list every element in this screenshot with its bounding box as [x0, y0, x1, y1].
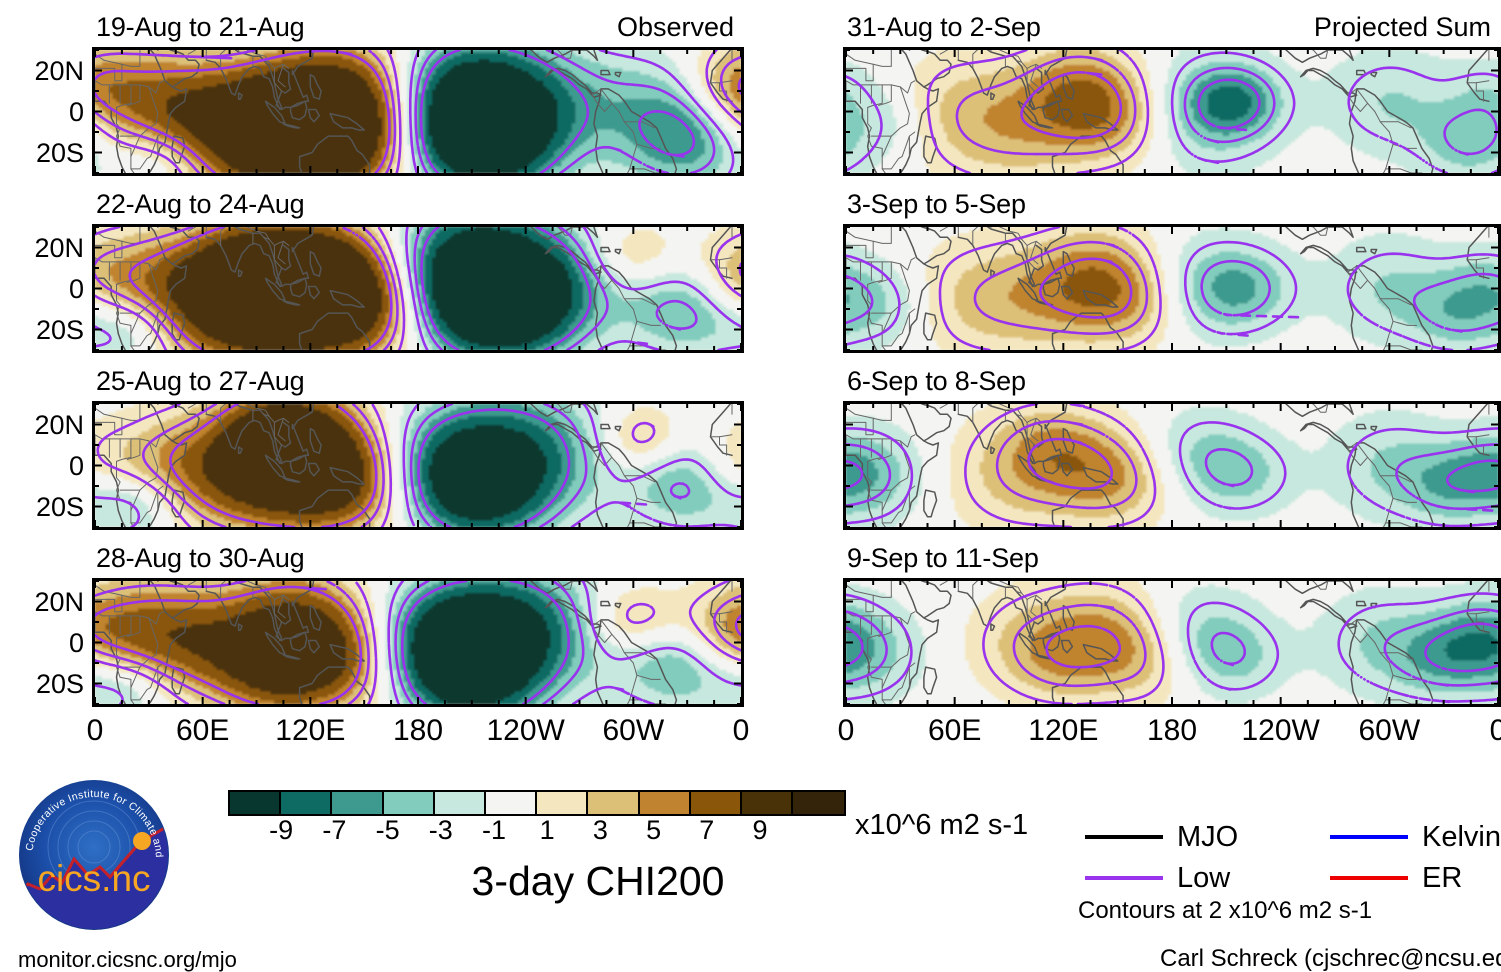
colorbar-swatch	[742, 792, 793, 814]
x-axis-label: 0	[733, 716, 750, 746]
x-axis-label: 0	[838, 716, 855, 746]
colorbar-tick-label: 5	[646, 817, 661, 844]
filled-contours	[846, 581, 1498, 704]
colorbar-tick-label: 1	[540, 817, 555, 844]
contour-interval-note: Contours at 2 x10^6 m2 s-1	[1078, 899, 1372, 923]
panel-title: 6-Sep to 8-Sep	[847, 368, 1026, 395]
colorbar-swatch	[588, 792, 639, 814]
panel-title: 25-Aug to 27-Aug	[96, 368, 304, 395]
colorbar-tick-label: -7	[322, 817, 346, 844]
map-canvas	[846, 50, 1498, 173]
figure-title: 3-day CHI200	[472, 861, 725, 902]
legend-label: Kelvin x2	[1422, 823, 1501, 852]
y-axis-label: 20S	[6, 671, 84, 698]
y-axis-label: 20N	[6, 589, 84, 616]
y-axis-label: 20N	[6, 235, 84, 262]
map-canvas	[846, 581, 1498, 704]
colorbar-tick-label: -9	[269, 817, 293, 844]
x-axis-label: 120W	[1241, 716, 1319, 746]
filled-contours	[846, 227, 1498, 350]
x-axis-label: 120E	[275, 716, 345, 746]
legend-line-low	[1085, 876, 1163, 880]
map-panel[interactable]	[92, 578, 744, 707]
map-canvas	[95, 50, 741, 173]
panel-title: 3-Sep to 5-Sep	[847, 191, 1026, 218]
cicsnc-logo-svg: Cooperative Institute for Climate and Sa…	[18, 779, 170, 931]
map-canvas	[846, 404, 1498, 527]
panel-title: 22-Aug to 24-Aug	[96, 191, 304, 218]
colorbar-tick-label: 9	[752, 817, 767, 844]
column-header: Observed	[617, 14, 734, 41]
colorbar-tick-label: 3	[593, 817, 608, 844]
y-axis-label: 20N	[6, 58, 84, 85]
colorbar-tick-label: -1	[482, 817, 506, 844]
column-header: Projected Sum	[1314, 14, 1491, 41]
x-axis-label: 60W	[602, 716, 664, 746]
filled-contours	[95, 50, 741, 173]
map-canvas	[846, 227, 1498, 350]
colorbar-swatch	[332, 792, 383, 814]
y-axis-label: 20N	[6, 412, 84, 439]
panel-title: 9-Sep to 11-Sep	[847, 545, 1039, 572]
map-panel[interactable]	[843, 578, 1501, 707]
colorbar-swatch	[640, 792, 691, 814]
map-panel[interactable]	[843, 47, 1501, 176]
x-axis-label: 0	[87, 716, 104, 746]
legend-line-mjo	[1085, 835, 1163, 839]
colorbar-units: x10^6 m2 s-1	[855, 811, 1028, 840]
map-panel[interactable]	[843, 401, 1501, 530]
map-panel[interactable]	[92, 224, 744, 353]
y-axis-label: 0	[6, 453, 84, 480]
legend-line-kelvin-x2	[1330, 835, 1408, 839]
panel-title: 28-Aug to 30-Aug	[96, 545, 304, 572]
y-axis-label: 0	[6, 630, 84, 657]
x-axis-label: 0	[1490, 716, 1501, 746]
legend-line-er	[1330, 876, 1408, 880]
cicsnc-logo: Cooperative Institute for Climate and Sa…	[18, 779, 170, 931]
x-axis-label: 180	[393, 716, 443, 746]
colorbar-tick-label: -3	[429, 817, 453, 844]
colorbar-tick-label: -5	[376, 817, 400, 844]
map-canvas	[95, 227, 741, 350]
panel-title: 19-Aug to 21-Aug	[96, 14, 304, 41]
colorbar-swatch	[793, 792, 844, 814]
colorbar-swatch	[384, 792, 435, 814]
colorbar-swatch	[230, 792, 281, 814]
colorbar-swatch	[281, 792, 332, 814]
map-panel[interactable]	[92, 401, 744, 530]
colorbar-swatch	[691, 792, 742, 814]
x-axis-label: 60E	[928, 716, 981, 746]
colorbar-swatch	[435, 792, 486, 814]
y-axis-label: 0	[6, 99, 84, 126]
colorbar	[228, 790, 846, 816]
y-axis-label: 20S	[6, 140, 84, 167]
legend-label: ER	[1422, 864, 1462, 893]
x-axis-label: 180	[1147, 716, 1197, 746]
x-axis-label: 120E	[1028, 716, 1098, 746]
map-panel[interactable]	[92, 47, 744, 176]
map-canvas	[95, 404, 741, 527]
legend-label: MJO	[1177, 823, 1238, 852]
map-panel[interactable]	[843, 224, 1501, 353]
colorbar-swatch	[486, 792, 537, 814]
y-axis-label: 20S	[6, 317, 84, 344]
x-axis-label: 60W	[1358, 716, 1420, 746]
y-axis-label: 20S	[6, 494, 84, 521]
y-axis-label: 0	[6, 276, 84, 303]
site-url: monitor.cicsnc.org/mjo	[18, 949, 237, 971]
x-axis-label: 60E	[176, 716, 229, 746]
colorbar-tick-label: 7	[699, 817, 714, 844]
legend-label: Low	[1177, 864, 1230, 893]
x-axis-label: 120W	[486, 716, 564, 746]
map-canvas	[95, 581, 741, 704]
panel-title: 31-Aug to 2-Sep	[847, 14, 1041, 41]
filled-contours	[95, 581, 741, 704]
credit-text: Carl Schreck (cjschrec@ncsu.edu)	[1160, 947, 1501, 971]
colorbar-swatch	[537, 792, 588, 814]
